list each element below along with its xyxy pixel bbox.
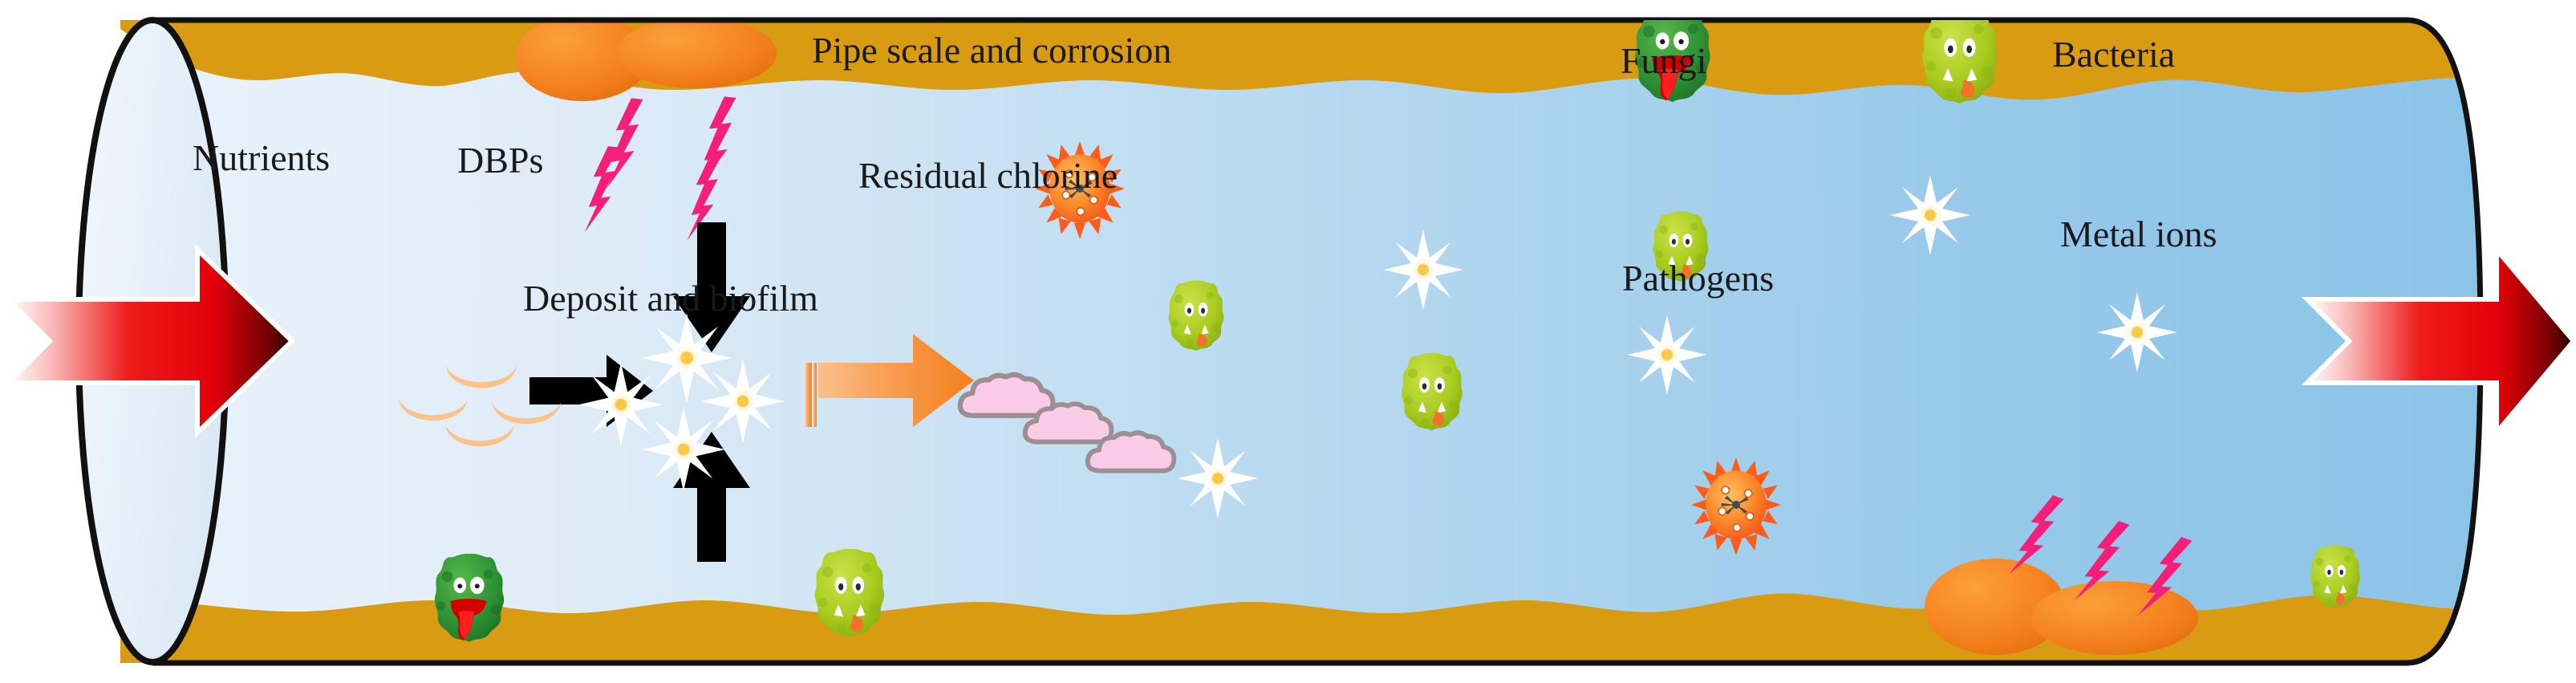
label-fungi: Fungi — [1621, 43, 1706, 79]
label-pipe-scale-and-corrosion: Pipe scale and corrosion — [812, 32, 1171, 69]
pipe-diagram-canvas: Pipe scale and corrosion Fungi Bacteria … — [0, 0, 2576, 683]
bacteria-icon — [1922, 8, 1997, 104]
label-dbps: DBPs — [457, 142, 543, 179]
bacteria-icon — [2310, 545, 2360, 608]
chlorine-star-icon — [1627, 315, 1707, 395]
label-deposit-and-biofilm: Deposit and biofilm — [523, 280, 818, 317]
pipe-scale-blob — [616, 18, 777, 88]
pipe-schematic-svg — [0, 0, 2576, 683]
chlorine-star-icon — [1890, 175, 1970, 255]
label-bacteria: Bacteria — [2052, 36, 2175, 73]
bacteria-icon — [815, 549, 884, 637]
label-metal-ions: Metal ions — [2060, 216, 2217, 253]
bacteria-icon — [1402, 353, 1462, 431]
chlorine-star-icon — [2097, 292, 2177, 372]
chlorine-star-icon — [1178, 438, 1258, 518]
chlorine-star-icon — [1383, 230, 1463, 310]
bacteria-icon — [1169, 281, 1224, 352]
label-nutrients: Nutrients — [193, 140, 330, 177]
pipe-scale-blob — [2031, 581, 2198, 655]
label-pathogens: Pathogens — [1622, 260, 1774, 297]
fungi-icon — [435, 554, 504, 642]
label-residual-chlorine: Residual chlorine — [858, 157, 1118, 194]
